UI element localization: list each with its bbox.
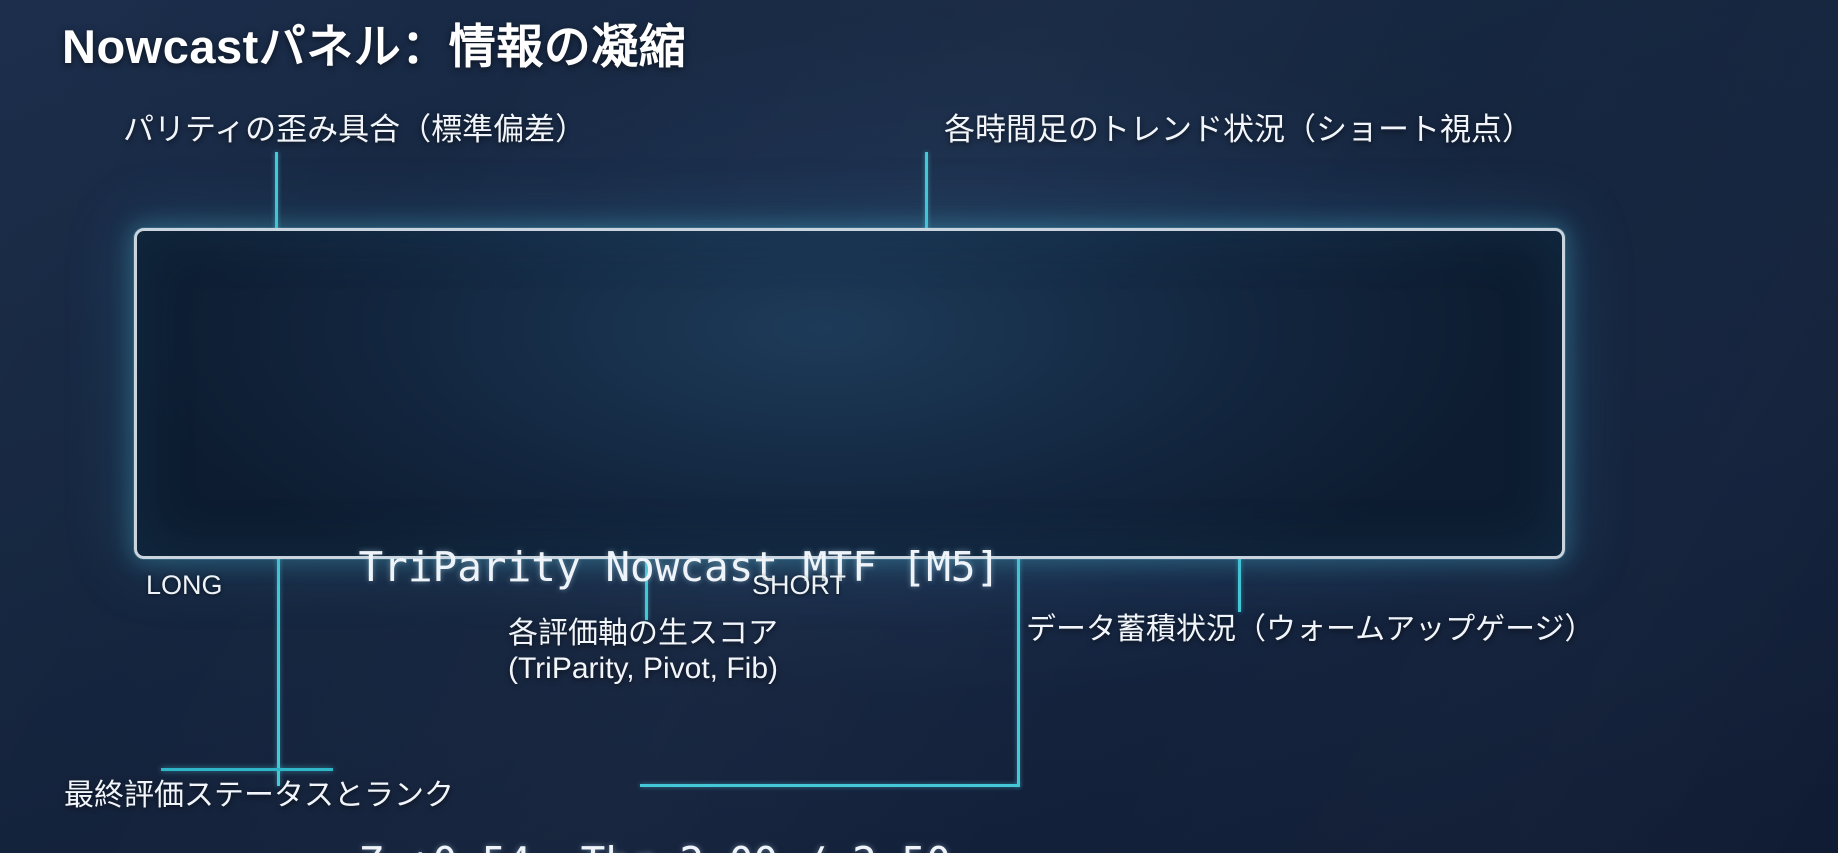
label-long: LONG (146, 570, 223, 601)
slide-canvas: Nowcastパネル：情報の凝縮 パリティの歪み具合（標準偏差） 各時間足のトレ… (0, 0, 1838, 853)
panel-line-zscore: Z=+0.54 Thr=2.00 / 2.50 (161, 774, 1617, 833)
page-title: Nowcastパネル：情報の凝縮 (62, 8, 686, 77)
annotation-parity-deviation: パリティの歪み具合（標準偏差） (123, 104, 586, 149)
annotation-mtf-trend: 各時間足のトレンド状況（ショート視点） (944, 104, 1533, 149)
underline-zscore (161, 768, 333, 771)
panel-title-text: TriParity Nowcast MTF [M5] (358, 543, 1000, 591)
label-short: SHORT (752, 570, 846, 601)
nowcast-panel[interactable]: TriParity Nowcast MTF [M5] Z=+0.54 Thr=2… (134, 228, 1565, 559)
panel-line-header: TriParity Nowcast MTF [M5] (161, 479, 1617, 538)
panel-zscore-text: Z=+0.54 Thr=2.00 / 2.50 (358, 838, 950, 853)
nowcast-panel-text: TriParity Nowcast MTF [M5] Z=+0.54 Thr=2… (161, 243, 1617, 853)
